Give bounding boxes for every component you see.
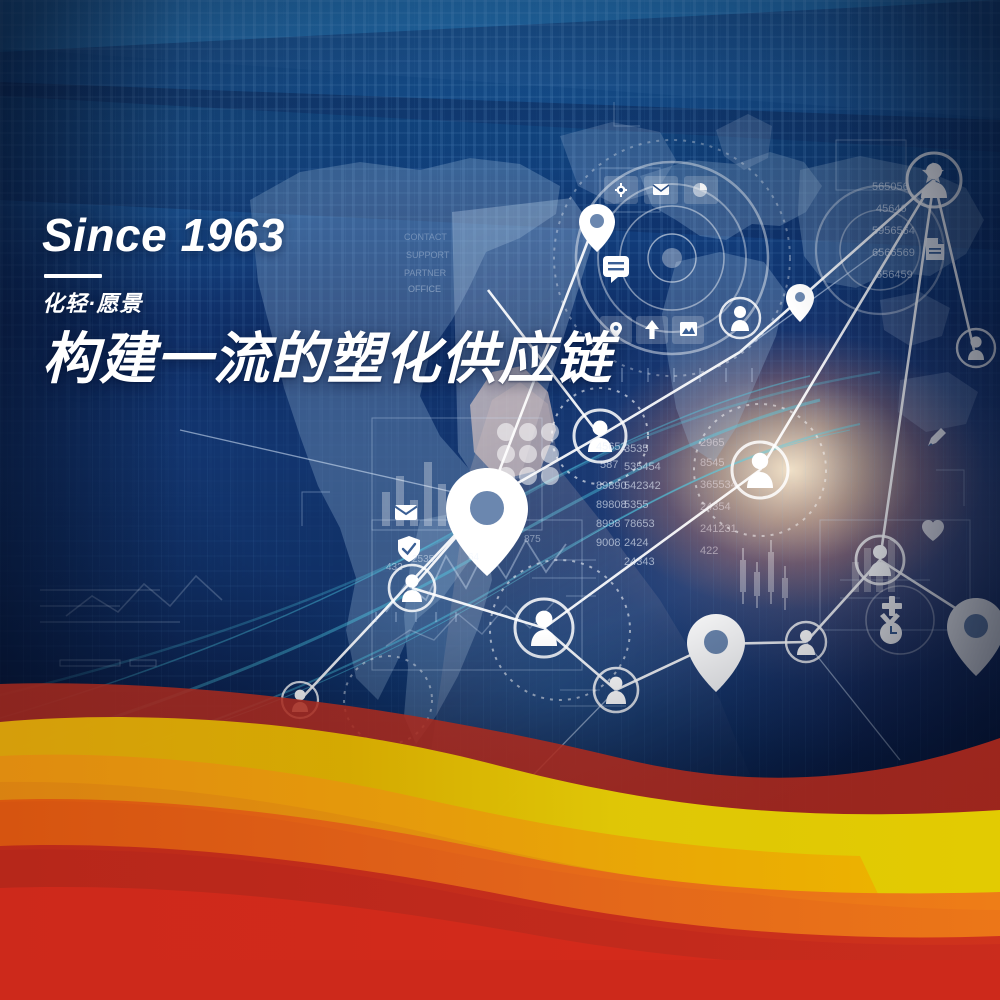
- subtitle-vision: 化轻·愿景: [42, 286, 662, 318]
- divider-rule: [44, 274, 102, 278]
- wave-solid-base: [0, 960, 1000, 1000]
- page-title: 构建一流的塑化供应链: [42, 328, 662, 391]
- bottom-wave-graphic: [0, 660, 1000, 1000]
- eyebrow-since-year: Since 1963: [42, 212, 662, 260]
- banner-hero: 3535 535454 542342 5355 78653 2424 24343…: [0, 0, 1000, 1000]
- hero-copy-block: Since 1963 化轻·愿景 构建一流的塑化供应链: [42, 212, 662, 391]
